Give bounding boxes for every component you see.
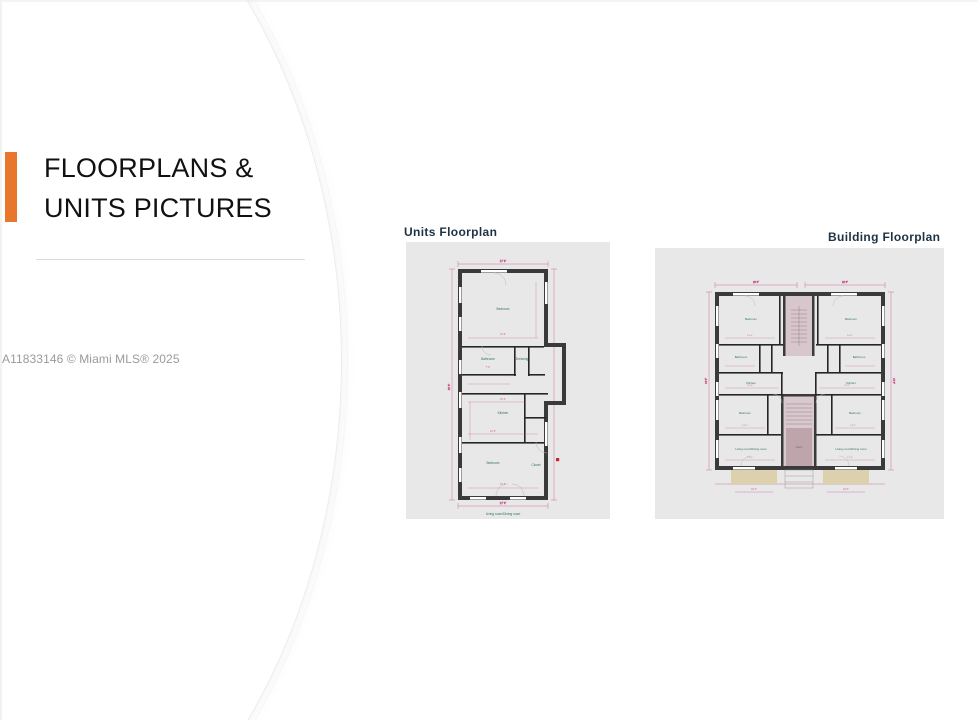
accent-bar xyxy=(5,152,17,222)
building-floorplan-heading: Building Floorplan xyxy=(828,230,940,244)
svg-text:14' 0": 14' 0" xyxy=(847,335,853,337)
svg-text:12' 6": 12' 6" xyxy=(490,431,496,433)
svg-text:17' 0": 17' 0" xyxy=(747,457,753,459)
svg-text:48' 6": 48' 6" xyxy=(447,384,451,391)
mls-credit: A11833146 © Miami MLS® 2025 xyxy=(2,352,180,366)
units-floorplan-panel[interactable]: 17' 6" 48' 6" 17' 6" xyxy=(406,242,610,519)
svg-text:Bathroom: Bathroom xyxy=(853,355,866,359)
svg-text:28' 6": 28' 6" xyxy=(753,281,759,284)
svg-text:21' 0": 21' 0" xyxy=(747,385,753,387)
svg-text:Bathroom: Bathroom xyxy=(481,357,495,361)
svg-text:44' 0": 44' 0" xyxy=(892,378,895,384)
svg-text:Bedroom: Bedroom xyxy=(845,317,857,321)
svg-text:17' 0": 17' 0" xyxy=(847,457,853,459)
svg-text:13' 6": 13' 6" xyxy=(500,334,506,336)
svg-text:Kitchen: Kitchen xyxy=(498,411,509,415)
svg-text:Living room/Dining room: Living room/Dining room xyxy=(735,447,767,451)
svg-text:13' 0": 13' 0" xyxy=(850,425,856,427)
page-title-line-1: FLOORPLANS & xyxy=(44,148,306,188)
svg-text:21' 0": 21' 0" xyxy=(844,385,850,387)
svg-text:28' 6": 28' 6" xyxy=(842,281,848,284)
svg-text:Bedroom: Bedroom xyxy=(745,317,757,321)
svg-text:Living room/Dining room: Living room/Dining room xyxy=(835,447,867,451)
svg-text:Bedroom: Bedroom xyxy=(739,411,751,415)
page-title: FLOORPLANS & UNITS PICTURES xyxy=(44,148,306,228)
svg-text:7' 6": 7' 6" xyxy=(486,367,491,369)
svg-text:15' 0": 15' 0" xyxy=(500,399,506,401)
svg-text:14' 0": 14' 0" xyxy=(747,335,753,337)
svg-text:Stairs: Stairs xyxy=(796,445,803,449)
svg-text:44' 0": 44' 0" xyxy=(705,378,708,384)
svg-text:Living room/Dining room: Living room/Dining room xyxy=(486,512,521,516)
building-floorplan-panel[interactable]: 28' 6" 28' 6" 44' 0" 44' 0" xyxy=(655,248,944,519)
svg-text:Bathroom: Bathroom xyxy=(735,355,748,359)
svg-text:13' 0": 13' 0" xyxy=(742,425,748,427)
svg-text:10' 0": 10' 0" xyxy=(843,489,849,491)
svg-text:10' 0": 10' 0" xyxy=(751,489,757,491)
svg-text:17' 6": 17' 6" xyxy=(500,501,507,505)
svg-text:Bedroom: Bedroom xyxy=(497,307,510,311)
building-floorplan-drawing: 28' 6" 28' 6" 44' 0" 44' 0" xyxy=(655,248,944,519)
page-title-line-2: UNITS PICTURES xyxy=(44,188,306,228)
title-divider xyxy=(36,259,305,260)
svg-text:13' 6": 13' 6" xyxy=(500,484,506,486)
svg-text:Dressing: Dressing xyxy=(516,357,529,361)
svg-text:Bedroom: Bedroom xyxy=(487,461,500,465)
slide-top-edge xyxy=(0,0,978,2)
slide-root: FLOORPLANS & UNITS PICTURES A11833146 © … xyxy=(0,0,978,720)
units-floorplan-drawing: 17' 6" 48' 6" 17' 6" xyxy=(406,242,610,519)
units-floorplan-heading: Units Floorplan xyxy=(404,225,497,239)
svg-text:Closet: Closet xyxy=(531,463,540,467)
svg-text:17' 6": 17' 6" xyxy=(500,259,507,263)
svg-text:Bedroom: Bedroom xyxy=(849,411,861,415)
